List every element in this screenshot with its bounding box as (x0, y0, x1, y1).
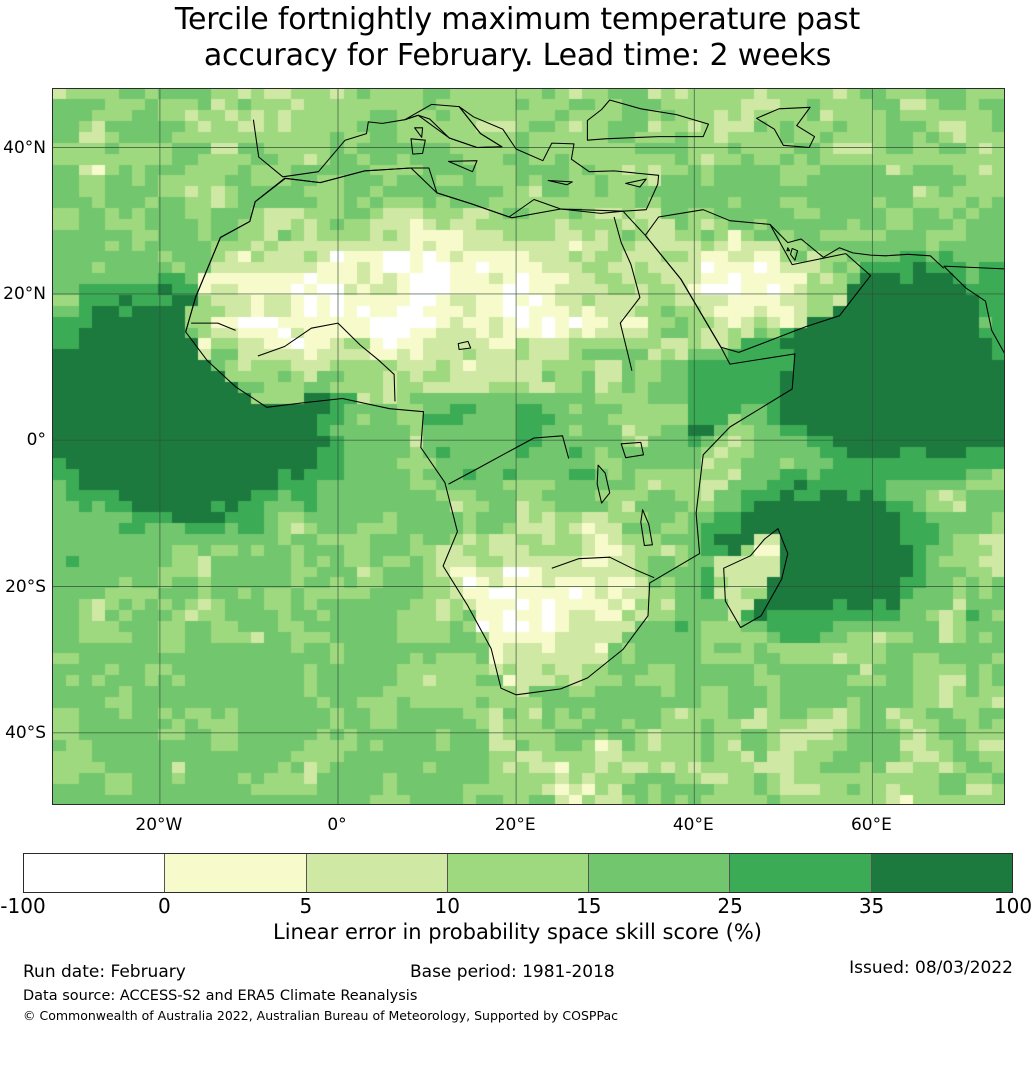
y-tick-label: 20°S (0, 577, 46, 597)
footer-issued-date: Issued: 08/03/2022 (849, 958, 1013, 978)
colorbar-tick-0: 0 (104, 896, 224, 916)
colorbar-tick-100: 100 (953, 896, 1035, 916)
colorbar-segment-3 (448, 854, 589, 892)
colorbar-label: Linear error in probability space skill … (0, 920, 1035, 944)
colorbar-tick-neg100: -100 (0, 896, 83, 916)
colorbar-segment-4 (589, 854, 730, 892)
x-tick-label: 0° (287, 815, 387, 835)
footer-copyright: © Commonwealth of Australia 2022, Austra… (23, 1008, 618, 1023)
colorbar-segment-6 (872, 854, 1012, 892)
footer-base-period: Base period: 1981-2018 (410, 962, 615, 982)
title-line-1: Tercile fortnightly maximum temperature … (0, 2, 1035, 38)
footer-data-source: Data source: ACCESS-S2 and ERA5 Climate … (23, 988, 417, 1004)
colorbar-tick-15: 15 (529, 896, 649, 916)
map-axes (52, 88, 1005, 805)
x-tick-label: 20°E (465, 815, 565, 835)
page-title: Tercile fortnightly maximum temperature … (0, 2, 1035, 74)
colorbar-tick-35: 35 (812, 896, 932, 916)
footer-run-date: Run date: February (23, 962, 186, 982)
colorbar-tick-10: 10 (387, 896, 507, 916)
coastline-overlay (53, 89, 1005, 805)
y-tick-label: 40°N (0, 138, 46, 158)
colorbar-segment-1 (165, 854, 306, 892)
y-tick-label: 0° (0, 430, 46, 450)
colorbar-tick-25: 25 (670, 896, 790, 916)
colorbar-tick-5: 5 (246, 896, 366, 916)
colorbar-segment-2 (307, 854, 448, 892)
y-tick-label: 20°N (0, 284, 46, 304)
y-tick-label: 40°S (0, 723, 46, 743)
title-line-2: accuracy for February. Lead time: 2 week… (0, 38, 1035, 74)
x-tick-label: 60°E (821, 815, 921, 835)
colorbar-segment-0 (24, 854, 165, 892)
colorbar-segment-5 (730, 854, 871, 892)
x-tick-label: 40°E (643, 815, 743, 835)
colorbar (23, 853, 1013, 893)
x-tick-label: 20°W (109, 815, 209, 835)
